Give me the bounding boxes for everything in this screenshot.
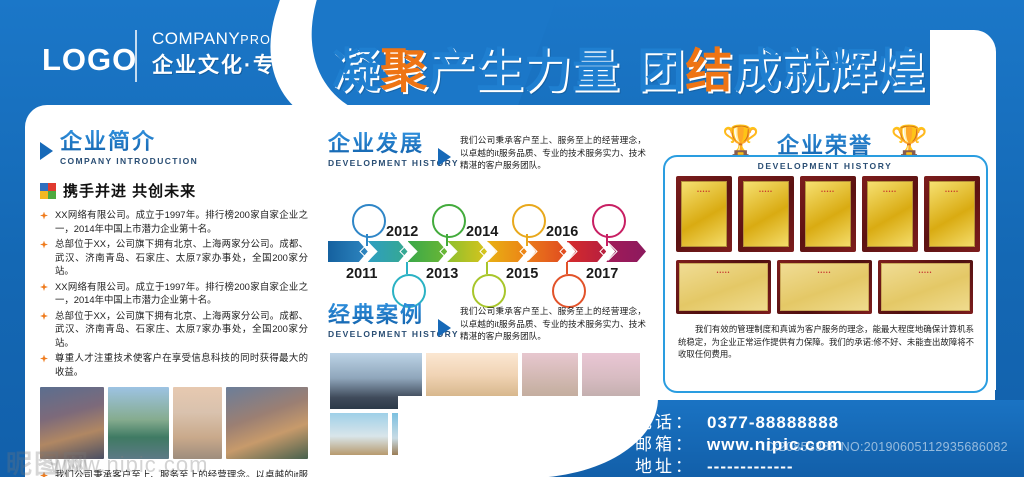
timeline-year: 2013	[426, 266, 458, 282]
watermark-id: ID:20853388 NO:20190605112935686082	[762, 440, 1008, 454]
list-item: 总部位于XX，公司旗下拥有北京、上海两家分公司。成都、武汉、济南青岛、石家庄、太…	[40, 237, 308, 278]
timeline-year: 2015	[506, 266, 538, 282]
phone-label: 电话：	[635, 412, 707, 434]
triangle-icon	[438, 319, 451, 337]
intro-heading-cn: 企业简介	[60, 130, 198, 154]
contact-address-row: 地址： -------------	[635, 456, 843, 477]
certificate-row-bottom: ••••• ••••• •••••	[676, 260, 973, 314]
timeline-year: 2012	[386, 224, 418, 240]
title-highlight-1: 聚	[380, 44, 428, 99]
photo-queensboro-bridge	[226, 387, 308, 459]
development-description: 我们公司秉承客户至上、服务至上的经营理念，以卓越的it服务品质、专业的技术服务实…	[460, 134, 646, 172]
certificate-dots: •••••	[930, 189, 974, 195]
title-highlight-2: 结	[685, 44, 733, 99]
certificate-dots: •••••	[744, 189, 788, 195]
certificate-plaque: •••••	[924, 176, 980, 252]
certificate-dots: •••••	[882, 270, 969, 276]
intro-heading-text: 企业简介 COMPANY INTRODUCTION	[60, 130, 198, 166]
certificate-dots: •••••	[806, 189, 850, 195]
contact-phone-row: 电话： 0377-88888888	[635, 412, 843, 434]
development-heading: 企业发展 DEVELOPMENT HISTORY 我们公司秉承客户至上、服务至上…	[328, 132, 646, 178]
logo: LOGO	[42, 44, 137, 75]
certificate-plaque: •••••	[738, 176, 794, 252]
intro-slogan: 携手并进 共创未来	[40, 180, 308, 201]
development-section: 企业发展 DEVELOPMENT HISTORY 我们公司秉承客户至上、服务至上…	[328, 132, 646, 300]
timeline-stem	[366, 234, 368, 246]
timeline-marker	[592, 204, 626, 238]
intro-slogan-text: 携手并进 共创未来	[63, 180, 196, 201]
watermark-site: www.nipic.com	[50, 452, 208, 477]
certificate-dots: •••••	[781, 270, 868, 276]
address-label: 地址：	[635, 456, 707, 477]
trophy-icon: 🏆	[722, 127, 759, 157]
timeline-stem	[566, 262, 568, 274]
timeline-marker	[352, 204, 386, 238]
main-title: 凝聚产生力量 团结成就辉煌	[332, 48, 925, 95]
certificate-row-top: ••••• ••••• ••••• ••••• •••••	[676, 176, 980, 252]
header-company-en: COMPANY	[152, 29, 240, 48]
intro-heading: 企业简介 COMPANY INTRODUCTION	[40, 132, 308, 174]
timeline-stem	[486, 262, 488, 274]
triangle-icon	[40, 142, 53, 160]
photo-statue-of-liberty	[108, 387, 169, 459]
certificate-plaque: •••••	[862, 176, 918, 252]
timeline-year: 2016	[546, 224, 578, 240]
title-part-2: 产生力量 团	[428, 44, 685, 99]
certificate-plaque: •••••	[800, 176, 856, 252]
title-part-1: 凝	[332, 44, 380, 99]
address-value: -------------	[707, 456, 794, 477]
timeline-year: 2011	[346, 266, 377, 282]
timeline-year: 2017	[586, 266, 618, 282]
timeline-marker	[512, 204, 546, 238]
trophy-icon: 🏆	[891, 127, 928, 157]
timeline-stem	[446, 234, 448, 246]
certificate-dots: •••••	[868, 189, 912, 195]
poster-root: LOGO COMPANYPROJECT 企业文化·专题 凝聚产生力量 团结成就辉…	[0, 0, 1024, 477]
list-item: XX网络有限公司。成立于1997年。排行榜200家自家企业之一，2014年中国上…	[40, 280, 308, 307]
intro-heading-en: COMPANY INTRODUCTION	[60, 156, 198, 166]
certificate-plaque-wide: •••••	[676, 260, 771, 314]
triangle-icon	[438, 148, 451, 166]
honor-note: 我们有效的管理制度和真诚为客户服务的理念，能最大程度地确保计算机系统稳定，为企业…	[678, 323, 974, 361]
timeline-marker	[432, 204, 466, 238]
header-divider	[135, 30, 137, 82]
certificate-dots: •••••	[680, 270, 767, 276]
intro-bullet-list: XX网络有限公司。成立于1997年。排行榜200家自家企业之一，2014年中国上…	[40, 208, 308, 378]
color-squares-icon	[40, 183, 56, 199]
development-timeline: 2011 2013 2015 2017 2012 2014 2016	[328, 182, 646, 300]
certificate-plaque: •••••	[676, 176, 732, 252]
timeline-stem	[406, 262, 408, 274]
company-intro-section: 企业简介 COMPANY INTRODUCTION 携手并进 共创未来 XX网络…	[40, 132, 308, 477]
list-item: 总部位于XX，公司旗下拥有北京、上海两家分公司。成都、武汉、济南青岛、石家庄、太…	[40, 309, 308, 350]
photo-sunset-skyline-a	[328, 411, 390, 457]
photo-aerial-cityscape	[173, 387, 222, 459]
certificate-plaque-wide: •••••	[878, 260, 973, 314]
certificate-dots: •••••	[682, 189, 726, 195]
cases-description: 我们公司秉承客户至上、服务至上的经营理念，以卓越的it服务品质、专业的技术服务实…	[460, 305, 646, 343]
timeline-stem	[526, 234, 528, 246]
cases-heading: 经典案例 DEVELOPMENT HISTORY 我们公司秉承客户至上、服务至上…	[328, 303, 646, 347]
list-item: XX网络有限公司。成立于1997年。排行榜200家自家企业之一，2014年中国上…	[40, 208, 308, 235]
timeline-year: 2014	[466, 224, 498, 240]
phone-value: 0377-88888888	[707, 412, 839, 434]
certificate-plaque-wide: •••••	[777, 260, 872, 314]
title-part-3: 成就辉煌	[733, 44, 925, 99]
email-label: 邮箱：	[635, 434, 707, 456]
timeline-stem	[606, 234, 608, 246]
list-item: 尊重人才注重技术使客户在享受信息科技的同时获得最大的收益。	[40, 351, 308, 378]
